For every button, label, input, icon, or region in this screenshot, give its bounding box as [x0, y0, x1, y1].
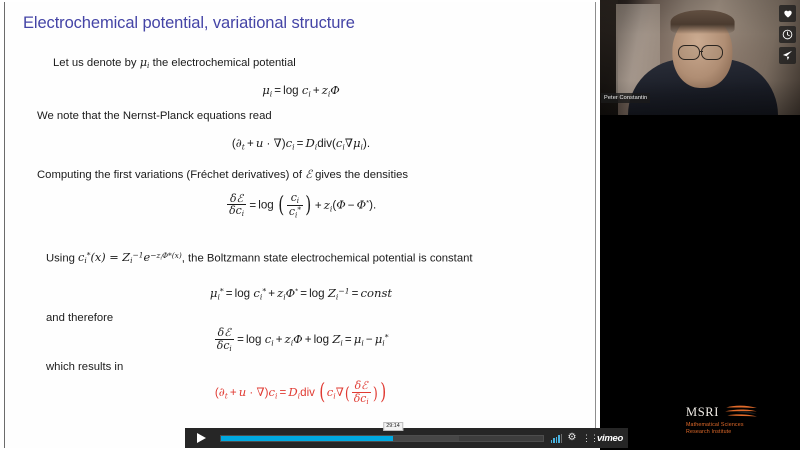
msri-acronym: MSRI: [686, 405, 719, 420]
scrubber-area[interactable]: 29:14: [215, 428, 549, 448]
paragraph-4-text-c: constant: [430, 252, 473, 264]
clock-icon: [782, 29, 793, 40]
vimeo-logo[interactable]: vimeo: [597, 433, 623, 444]
paragraph-3-text-b: gives the densities: [315, 169, 408, 181]
msri-logo-row: MSRI: [686, 404, 790, 420]
share-icon: [782, 50, 793, 61]
paragraph-1-text-a: Let us denote by: [53, 57, 137, 69]
inline-boltzmann-expr: ci*(x) = Zi−1e−ziΦ*(x): [78, 251, 182, 264]
volume-icon[interactable]: [551, 434, 563, 443]
msri-logo: MSRI Mathematical Sciences Research Inst…: [686, 404, 790, 436]
slide-paragraph-3: Computing the first variations (Fréchet …: [37, 168, 408, 182]
play-button[interactable]: [185, 428, 215, 448]
msri-subtitle: Mathematical Sciences Research Institute: [686, 422, 790, 436]
slide-content: Electrochemical potential, variational s…: [4, 2, 596, 448]
watch-later-button[interactable]: [779, 26, 796, 43]
paragraph-3-text-a: Computing the first variations (Fréchet …: [37, 169, 302, 181]
msri-swoosh-icon: [724, 404, 758, 420]
video-control-bar[interactable]: 29:14 ⚙ ⋮⋮ vimeo: [185, 428, 628, 448]
equation-1: μi=log ci+ziΦ: [5, 83, 597, 98]
slide-paragraph-6: which results in: [46, 360, 123, 374]
speaker-webcam-pane[interactable]: Peter Constantin: [600, 0, 800, 115]
slide-paragraph-2: We note that the Nernst-Planck equations…: [37, 109, 272, 123]
speaker-name-label: Peter Constantin: [601, 93, 650, 103]
equation-3: δℰδci=log (cici*)+zi(Φ−Φ*).: [5, 192, 597, 219]
inline-energy-symbol: ℰ: [305, 168, 312, 181]
fullscreen-icon[interactable]: ⋮⋮: [582, 434, 592, 443]
share-button[interactable]: [779, 47, 796, 64]
msri-subtitle-line-2: Research Institute: [686, 429, 790, 436]
slide-title: Electrochemical potential, variational s…: [23, 14, 355, 33]
play-icon: [197, 433, 206, 443]
video-player-stage: Electrochemical potential, variational s…: [0, 0, 800, 450]
paragraph-4-text-a: Using: [46, 252, 75, 264]
slide-paragraph-5: and therefore: [46, 311, 113, 325]
right-controls: ⚙ ⋮⋮ vimeo: [549, 428, 628, 448]
equation-4: μi*=log ci*+ziΦ*=log Zi−1=const: [5, 286, 597, 301]
like-button[interactable]: [779, 5, 796, 22]
inline-mu-symbol: μi: [140, 56, 150, 69]
progress-track[interactable]: 29:14: [220, 435, 544, 442]
paragraph-4-text-b: , the Boltzmann state electrochemical po…: [182, 252, 427, 264]
played-bar: [221, 436, 393, 441]
gear-icon[interactable]: ⚙: [567, 433, 577, 443]
slide-paragraph-1: Let us denote by μi the electrochemical …: [53, 56, 296, 73]
msri-subtitle-line-1: Mathematical Sciences: [686, 422, 790, 429]
slide-paragraph-4: Using ci*(x) = Zi−1e−ziΦ*(x), the Boltzm…: [46, 249, 516, 269]
equation-2: (∂t+u · ∇)ci=Didiv(ci∇μi).: [5, 136, 597, 151]
heart-icon: [783, 9, 793, 18]
webcam-action-buttons: [779, 5, 796, 64]
equation-6-highlighted: (∂t+u · ∇)ci=Didiv (ci∇(δℰδci)): [5, 380, 597, 406]
time-tooltip: 29:14: [383, 422, 403, 431]
paragraph-1-text-b: the electrochemical potential: [153, 57, 296, 69]
slide-video-pane[interactable]: Electrochemical potential, variational s…: [0, 0, 600, 450]
equation-5: δℰδci=log ci+ziΦ+log Zi=μi−μi*: [5, 327, 597, 353]
